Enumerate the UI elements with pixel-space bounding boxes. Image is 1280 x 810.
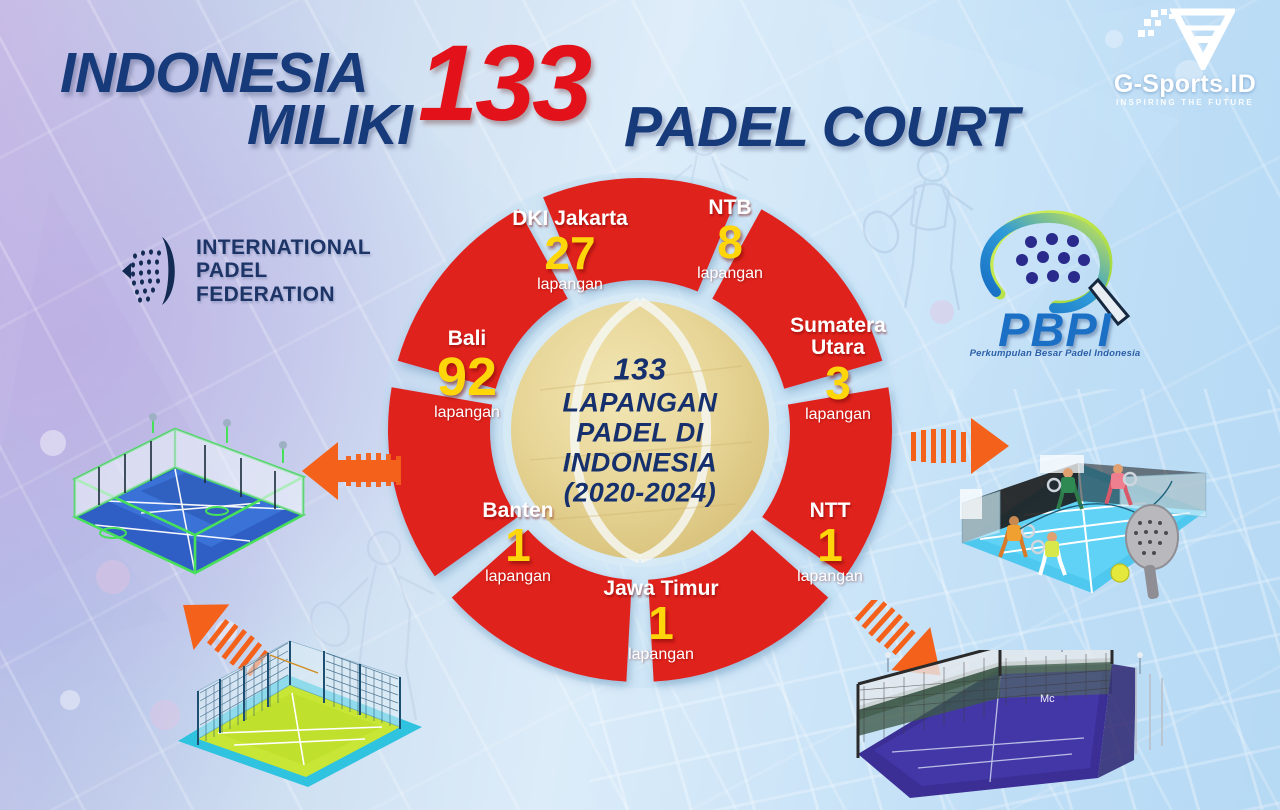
padel-court-players-illustration (940, 425, 1260, 610)
padel-courts-donut-chart: DKI Jakarta 27 lapangan NTB 8 lapangan S… (370, 160, 910, 700)
ipf-line-2: PADEL (196, 259, 371, 283)
gsports-tagline: INSPIRING THE FUTURE (1105, 98, 1265, 107)
ipf-line-1: INTERNATIONAL (196, 236, 371, 260)
donut-center-text: 133 LAPANGAN PADEL DI INDONESIA (2020-20… (520, 352, 760, 509)
ipf-logo: INTERNATIONAL PADEL FEDERATION (118, 222, 370, 320)
padel-racket-icon (118, 234, 184, 308)
ipf-line-3: FEDERATION (196, 283, 371, 307)
ipf-logo-text: INTERNATIONAL PADEL FEDERATION (196, 236, 371, 307)
gsports-logo: G-Sports.ID INSPIRING THE FUTURE (1105, 8, 1265, 114)
title-big-number: 133 (418, 20, 589, 145)
center-total: 133 (520, 352, 760, 388)
padel-court-green-render (160, 615, 445, 790)
center-line-1: LAPANGAN (520, 387, 760, 417)
pbpi-subtitle: Perkumpulan Besar Padel Indonesia (960, 348, 1150, 359)
title-miliki: MILIKI (247, 92, 412, 158)
svg-text:Mc: Mc (1040, 693, 1055, 705)
title-padel-court: PADEL COURT (624, 94, 1018, 160)
pbpi-logo: PBPI Perkumpulan Besar Padel Indonesia (960, 208, 1150, 363)
center-line-2: PADEL DI (520, 418, 760, 448)
padel-court-outdoor-photo: Mc (840, 650, 1270, 810)
padel-court-blue-render (45, 405, 330, 595)
center-line-4: (2020-2024) (520, 478, 760, 508)
center-line-3: INDONESIA (520, 448, 760, 478)
gsports-wordmark: G-Sports.ID (1105, 70, 1265, 99)
g-sports-triangle-icon (1135, 8, 1235, 70)
page-header: INDONESIA MILIKI 133 PADEL COURT (0, 18, 1080, 138)
